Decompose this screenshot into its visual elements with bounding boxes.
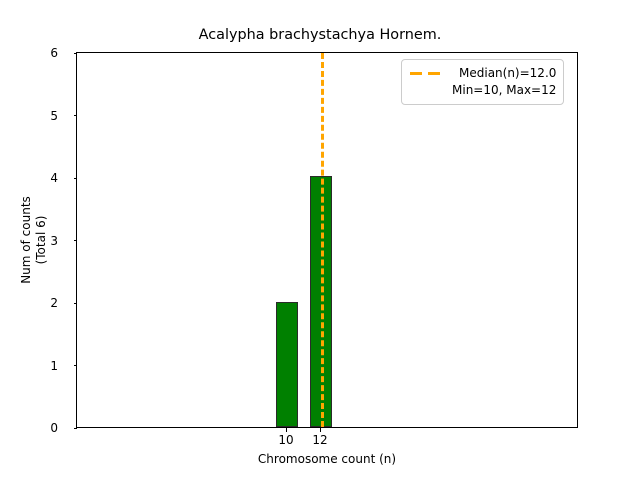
- legend-label-minmax: Min=10, Max=12: [452, 82, 556, 99]
- ytick-label-4: 4: [18, 171, 58, 185]
- ytick-label-2: 2: [18, 296, 58, 310]
- plot-inner: [77, 53, 577, 427]
- ytick-mark-4: [74, 178, 78, 179]
- xtick-label-12: 12: [300, 433, 340, 447]
- bar-10: [276, 302, 298, 427]
- x-axis-label: Chromosome count (n): [76, 452, 578, 466]
- legend-text: Median(n)=12.0 Min=10, Max=12: [452, 65, 556, 99]
- xtick-mark-12: [320, 428, 321, 432]
- xtick-mark-10: [286, 428, 287, 432]
- ytick-label-5: 5: [18, 109, 58, 123]
- ytick-label-3: 3: [18, 234, 58, 248]
- chart-figure: Acalypha brachystachya Hornem. Num of co…: [0, 0, 640, 480]
- legend: Median(n)=12.0 Min=10, Max=12: [401, 59, 564, 105]
- ytick-mark-3: [74, 240, 78, 241]
- ytick-mark-1: [74, 365, 78, 366]
- ytick-mark-2: [74, 303, 78, 304]
- ytick-label-0: 0: [18, 421, 58, 435]
- ytick-mark-6: [74, 53, 78, 54]
- legend-label-median: Median(n)=12.0: [452, 65, 556, 82]
- chart-title: Acalypha brachystachya Hornem.: [0, 27, 640, 44]
- median-vline: [321, 53, 324, 427]
- xtick-layer: 10 12: [76, 428, 578, 452]
- legend-median-line-swatch: [409, 65, 445, 82]
- ytick-label-1: 1: [18, 359, 58, 373]
- ytick-label-6: 6: [18, 46, 58, 60]
- ytick-mark-5: [74, 115, 78, 116]
- plot-area: Median(n)=12.0 Min=10, Max=12: [76, 52, 578, 428]
